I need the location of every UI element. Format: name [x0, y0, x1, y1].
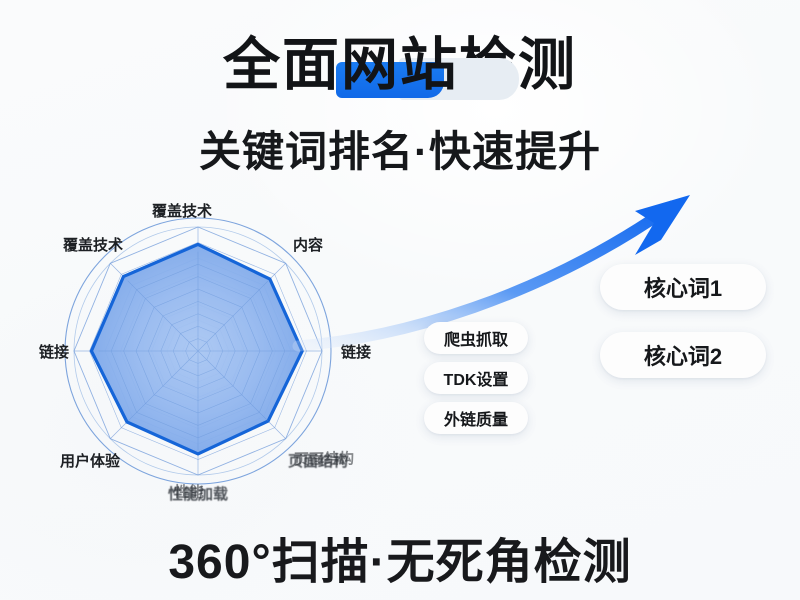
radar-axis-label-top: 覆盖技术: [152, 200, 212, 221]
radar-ghost-label-bottom-right: 页面结构: [294, 447, 354, 469]
title-highlight-wrap: 网站: [341, 36, 459, 96]
title-part-highlight: 网站: [341, 33, 459, 97]
poster-canvas: 全面网站检测 关键词排名·快速提升: [0, 0, 800, 600]
page-subtitle: 关键词排名·快速提升: [0, 118, 800, 179]
radar-inner-web: [99, 252, 297, 450]
radar-series-polygon: [91, 244, 302, 454]
radar-axis-label-right: 链接: [341, 341, 371, 362]
pill-keyword-1[interactable]: 核心词1: [600, 264, 766, 310]
radar-chart: 覆盖技术 内容 链接 页面结构 性能加载 用户体验 链接 覆盖技术 页面结构 性…: [38, 186, 418, 516]
page-title: 全面网站检测: [0, 36, 800, 96]
radar-axis-label-top-right: 内容: [293, 234, 323, 255]
title-part-pre: 全面: [223, 33, 341, 97]
radar-ghost-label-bottom: 性能: [174, 481, 204, 503]
pill-backlink-quality[interactable]: 外链质量: [424, 402, 528, 434]
radar-axis-label-bottom-left: 用户体验: [60, 450, 120, 471]
pill-tdk[interactable]: TDK设置: [424, 362, 528, 394]
pill-keyword-2[interactable]: 核心词2: [600, 332, 766, 378]
radar-axis-label-left: 链接: [39, 341, 69, 362]
page-footer-title: 360°扫描·无死角检测: [0, 522, 800, 592]
radar-axis-label-top-left: 覆盖技术: [63, 234, 123, 255]
pill-crawl[interactable]: 爬虫抓取: [424, 322, 528, 354]
